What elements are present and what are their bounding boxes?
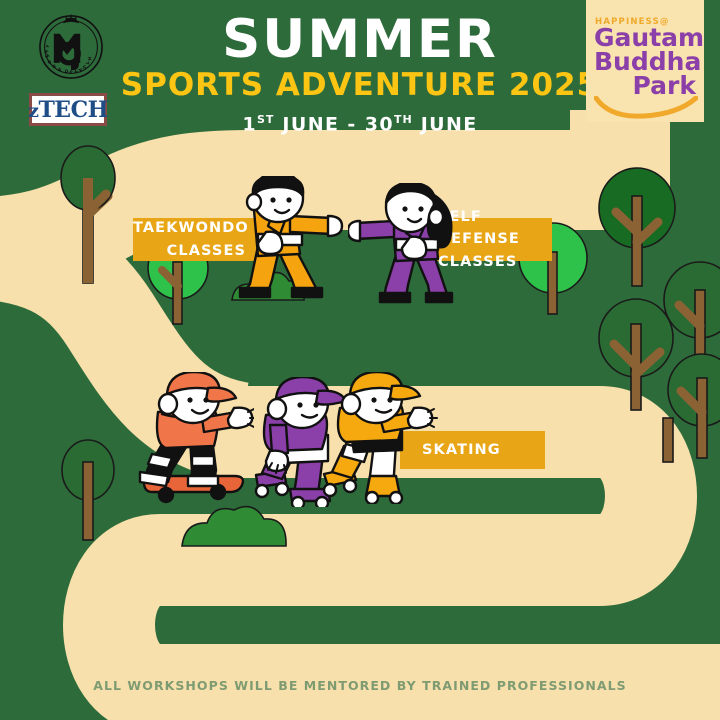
bush-icon xyxy=(182,507,286,546)
date-from-number: 1 xyxy=(242,113,257,135)
date-from-ordinal: ST xyxy=(257,113,274,126)
character-taekwondo-kid xyxy=(228,176,346,304)
tree-icon xyxy=(61,146,115,283)
tree-icon xyxy=(599,299,673,410)
character-self-defense-girl xyxy=(348,183,466,309)
character-skateboarder-kid xyxy=(138,372,254,504)
park-name-line3: Park xyxy=(594,74,698,98)
date-to-number: 30 xyxy=(365,113,394,135)
date-to-month: JUNE xyxy=(421,113,478,135)
date-to-ordinal: TH xyxy=(394,113,413,126)
poster-header: Y A M U N A D E V A U T H zTECH SUMMER S… xyxy=(0,0,720,148)
character-roller-skater-yellow xyxy=(322,372,438,504)
gautam-buddha-park-logo: HAPPINESS@ Gautam Buddha Park xyxy=(586,0,704,122)
tree-icon xyxy=(663,418,673,462)
park-name-line2: Buddha xyxy=(594,50,698,74)
footer-note: ALL WORKSHOPS WILL BE MENTORED BY TRAINE… xyxy=(0,678,720,693)
date-separator: - xyxy=(347,113,356,135)
poster-canvas: TAEKWONDO CLASSES SELF DEFENSE CLASSES S… xyxy=(0,0,720,720)
date-from-month: JUNE xyxy=(282,113,339,135)
tree-icon xyxy=(599,168,675,286)
park-name: Gautam Buddha Park xyxy=(594,26,698,97)
banner-skating-line1: SKATING xyxy=(422,439,545,461)
tree-icon xyxy=(62,440,114,540)
smile-curve-icon xyxy=(594,96,698,120)
tree-icon xyxy=(668,354,720,458)
